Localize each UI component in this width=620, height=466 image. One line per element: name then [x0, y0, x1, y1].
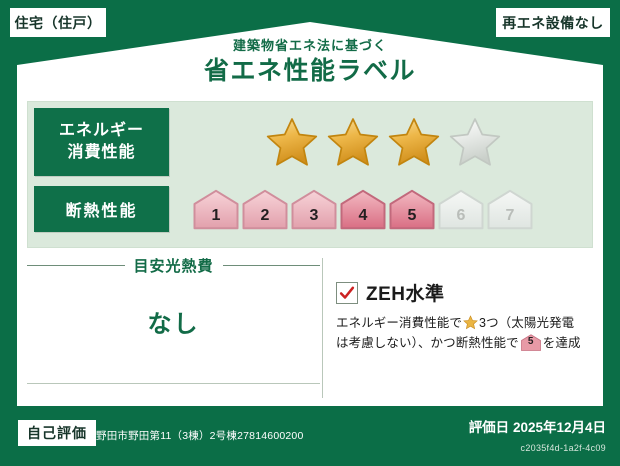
- column-divider: [322, 258, 323, 398]
- insulation-performance-label: 断熱性能: [34, 186, 169, 232]
- footer: 自己評価 野田市野田第11（3棟）2号棟27814600200 評価日 2025…: [0, 408, 620, 466]
- insulation-level-value: 1: [193, 207, 239, 225]
- energy-label-line2: 消費性能: [67, 142, 135, 164]
- insulation-level-badge: 4: [340, 189, 386, 230]
- zeh-description: エネルギー消費性能で3つ（太陽光発電 は考慮しない）、かつ断熱性能で5を達成: [336, 313, 593, 354]
- star-filled-icon: [388, 116, 440, 168]
- insulation-level-value: 5: [389, 207, 435, 225]
- insulation-level-value: 3: [291, 207, 337, 225]
- lower-section: 目安光熱費 なし ZEH水準 エネルギー消費性能で3つ（太陽光発電 は考慮しない…: [27, 256, 593, 404]
- self-evaluation-badge: 自己評価: [18, 420, 96, 446]
- insulation-level-value: 7: [487, 207, 533, 225]
- heading-rule-right: [223, 265, 321, 266]
- insulation-level-value: 2: [242, 207, 288, 225]
- insulation-level-badge: 5: [389, 189, 435, 230]
- energy-label-line1: エネルギー: [59, 120, 144, 142]
- star-filled-icon: [266, 116, 318, 168]
- evaluation-date: 評価日 2025年12月4日: [469, 416, 606, 436]
- insulation-level-badge: 6: [438, 189, 484, 230]
- performance-panel: エネルギー 消費性能 断熱性能 1234567: [27, 101, 593, 248]
- utility-cost-bottom-rule: [27, 383, 320, 384]
- property-address: 野田市野田第11（3棟）2号棟27814600200: [96, 428, 304, 443]
- utility-cost-heading: 目安光熱費: [27, 256, 320, 274]
- insulation-performance-row: 断熱性能 1234567: [28, 183, 592, 235]
- check-icon: [338, 284, 356, 302]
- heading-rule-left: [27, 265, 125, 266]
- label-uuid: c2035f4d-1a2f-4c09: [521, 443, 606, 453]
- energy-performance-label: 住宅（住戸） 再エネ設備なし 建築物省エネ法に基づく 省エネ性能ラベル エネルギ…: [0, 0, 620, 466]
- star-filled-icon: [327, 116, 379, 168]
- inline-level-badge-value: 5: [521, 334, 541, 350]
- zeh-desc-part1: エネルギー消費性能で: [336, 316, 462, 330]
- renewable-equipment-chip: 再エネ設備なし: [496, 8, 610, 37]
- title-block: 建築物省エネ法に基づく 省エネ性能ラベル: [0, 38, 620, 87]
- inline-level-badge: 5: [521, 334, 541, 351]
- zeh-heading: ZEH水準: [336, 279, 593, 306]
- inline-star-icon: [463, 315, 478, 330]
- utility-cost-heading-text: 目安光熱費: [125, 255, 223, 276]
- zeh-desc-part2: は考慮しない）、かつ断熱性能で: [336, 336, 519, 350]
- zeh-checkbox: [336, 282, 358, 304]
- insulation-level-value: 4: [340, 207, 386, 225]
- building-type-chip: 住宅（住戸）: [10, 8, 106, 37]
- insulation-level-badge: 1: [193, 189, 239, 230]
- energy-performance-row: エネルギー 消費性能: [28, 108, 592, 176]
- utility-cost-block: 目安光熱費 なし: [27, 256, 320, 404]
- star-rating: [266, 116, 501, 168]
- insulation-level-badge: 3: [291, 189, 337, 230]
- star-empty-icon: [449, 116, 501, 168]
- utility-cost-value: なし: [27, 304, 320, 339]
- insulation-level-value: 6: [438, 207, 484, 225]
- insulation-level-scale: 1234567: [193, 189, 533, 230]
- zeh-desc-stars: 3つ（太陽光発電: [479, 316, 574, 330]
- zeh-title: ZEH水準: [366, 279, 445, 306]
- title-subtitle: 建築物省エネ法に基づく: [0, 38, 620, 54]
- insulation-level-badge: 7: [487, 189, 533, 230]
- zeh-block: ZEH水準 エネルギー消費性能で3つ（太陽光発電 は考慮しない）、かつ断熱性能で…: [336, 256, 593, 404]
- page-title: 省エネ性能ラベル: [0, 56, 620, 87]
- zeh-desc-part3: を達成: [543, 336, 581, 350]
- energy-performance-label: エネルギー 消費性能: [34, 108, 169, 176]
- insulation-level-badge: 2: [242, 189, 288, 230]
